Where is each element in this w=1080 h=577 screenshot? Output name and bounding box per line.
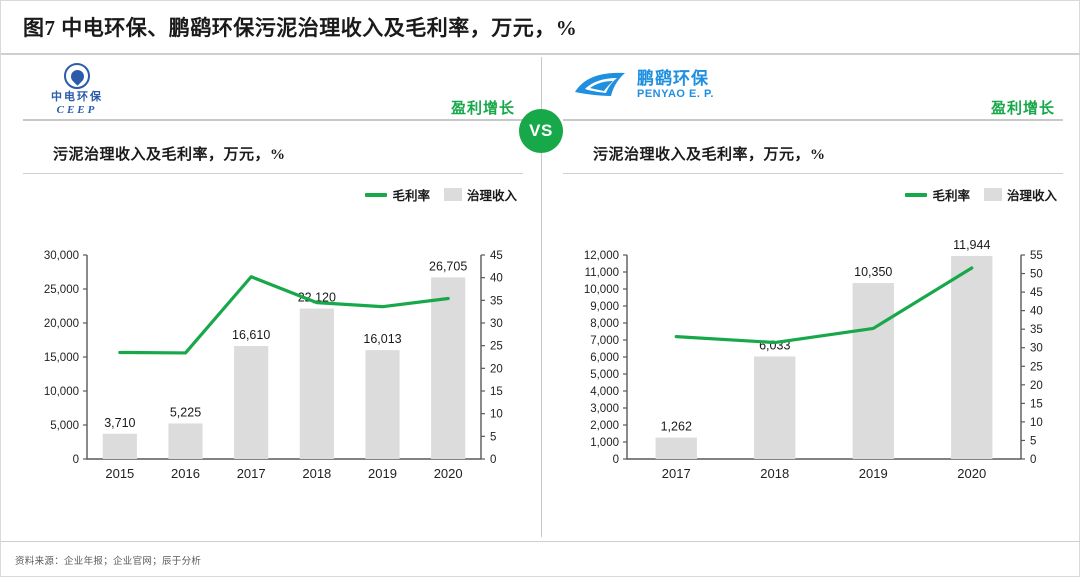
bar: [656, 438, 697, 459]
bar-value-label: 3,710: [104, 416, 135, 430]
bar: [754, 356, 795, 459]
penyao-wordmark: 鹏鹞环保 PENYAO E. P.: [637, 69, 714, 101]
category-label: 2019: [859, 466, 888, 481]
legend-item-margin: 毛利率: [365, 185, 430, 204]
bar: [853, 283, 894, 459]
left-axis-tick-label: 2,000: [590, 420, 619, 432]
bar-swatch-icon: [444, 188, 462, 201]
category-label: 2017: [237, 466, 266, 481]
page-title: 图7 中电环保、鹏鹞环保污泥治理收入及毛利率，万元，%: [23, 12, 577, 42]
ceep-brand-en: CEEP: [57, 104, 98, 117]
bar-swatch-icon: [984, 188, 1002, 201]
right-axis-tick-label: 45: [490, 250, 503, 262]
left-axis-tick-label: 10,000: [44, 386, 79, 398]
panel-ceep-header: 中电环保 CEEP 盈利增长: [23, 61, 523, 121]
vs-badge: VS: [519, 109, 563, 153]
category-label: 2015: [105, 466, 134, 481]
bar-value-label: 16,610: [232, 328, 270, 342]
ceep-subtitle-rule: [23, 173, 523, 174]
left-axis-tick-label: 6,000: [590, 352, 619, 364]
legend-label-margin: 毛利率: [932, 185, 970, 204]
right-axis-tick-label: 15: [1030, 398, 1043, 410]
right-axis-tick-label: 20: [1030, 380, 1043, 392]
panel-penyao: 鹏鹞环保 PENYAO E. P. 盈利增长 污泥治理收入及毛利率，万元，% 毛…: [563, 61, 1063, 531]
legend-item-revenue: 治理收入: [444, 185, 517, 204]
legend-label-margin: 毛利率: [392, 185, 430, 204]
ceep-droplet-icon: [64, 63, 90, 89]
right-axis-tick-label: 0: [1030, 454, 1036, 466]
figure-page: 图7 中电环保、鹏鹞环保污泥治理收入及毛利率，万元，% VS 中电环保 CEEP…: [0, 0, 1080, 577]
title-accent-bar: [1, 7, 7, 47]
line-swatch-icon: [365, 193, 387, 197]
bar: [951, 256, 992, 459]
right-axis-tick-label: 25: [490, 341, 503, 353]
bar: [431, 277, 465, 459]
right-axis-tick-label: 45: [1030, 287, 1043, 299]
penyao-legend: 毛利率 治理收入: [905, 185, 1057, 204]
bar: [234, 346, 268, 459]
left-axis-tick-label: 0: [73, 454, 79, 466]
right-axis-tick-label: 5: [1030, 435, 1036, 447]
bar-value-label: 11,944: [953, 238, 990, 252]
right-axis-tick-label: 35: [1030, 324, 1043, 336]
penyao-plot: 01,0002,0003,0004,0005,0006,0007,0008,00…: [563, 229, 1063, 489]
left-axis-tick-label: 5,000: [590, 369, 619, 381]
left-axis-tick-label: 10,000: [584, 284, 619, 296]
right-axis-tick-label: 40: [490, 273, 503, 285]
penyao-header-rule: [563, 119, 1063, 121]
left-axis-tick-label: 3,000: [590, 403, 619, 415]
bar: [168, 423, 202, 459]
right-axis-tick-label: 20: [490, 363, 503, 375]
category-label: 2020: [957, 466, 986, 481]
ceep-legend: 毛利率 治理收入: [365, 185, 517, 204]
category-label: 2018: [302, 466, 331, 481]
left-axis-tick-label: 15,000: [44, 352, 79, 364]
ceep-growth-tag: 盈利增长: [451, 97, 515, 118]
left-axis-tick-label: 0: [613, 454, 619, 466]
left-axis-tick-label: 12,000: [584, 250, 619, 262]
right-axis-tick-label: 35: [490, 295, 503, 307]
penyao-growth-tag: 盈利增长: [991, 97, 1055, 118]
line-swatch-icon: [905, 193, 927, 197]
footer-divider: [1, 541, 1080, 542]
right-axis-tick-label: 0: [490, 454, 496, 466]
bar-value-label: 26,705: [429, 259, 467, 273]
category-label: 2019: [368, 466, 397, 481]
right-axis-tick-label: 5: [490, 431, 496, 443]
panel-ceep: 中电环保 CEEP 盈利增长 污泥治理收入及毛利率，万元，% 毛利率 治理收入 …: [23, 61, 523, 531]
right-axis-tick-label: 25: [1030, 361, 1043, 373]
ceep-plot: 05,00010,00015,00020,00025,00030,0000510…: [23, 229, 523, 489]
margin-line-series: [676, 268, 972, 343]
right-axis-tick-label: 30: [1030, 343, 1043, 355]
left-axis-tick-label: 30,000: [44, 250, 79, 262]
category-label: 2017: [662, 466, 691, 481]
left-axis-tick-label: 25,000: [44, 284, 79, 296]
legend-label-revenue: 治理收入: [467, 185, 517, 204]
left-axis-tick-label: 9,000: [590, 301, 619, 313]
penyao-wave-icon: [573, 70, 629, 100]
penyao-brand-en: PENYAO E. P.: [637, 88, 714, 101]
category-label: 2016: [171, 466, 200, 481]
legend-item-revenue: 治理收入: [984, 185, 1057, 204]
left-axis-tick-label: 5,000: [50, 420, 79, 432]
bar-value-label: 1,262: [661, 420, 692, 434]
title-divider: [1, 53, 1080, 55]
panel-penyao-header: 鹏鹞环保 PENYAO E. P. 盈利增长: [563, 61, 1063, 121]
left-axis-spine: [87, 255, 481, 459]
bar-value-label: 10,350: [854, 265, 892, 279]
ceep-chart-svg: 05,00010,00015,00020,00025,00030,0000510…: [23, 229, 523, 489]
penyao-brand-cn: 鹏鹞环保: [637, 69, 714, 88]
category-label: 2018: [760, 466, 789, 481]
category-label: 2020: [434, 466, 463, 481]
bar: [365, 350, 399, 459]
ceep-droplet-inner-icon: [68, 67, 86, 85]
right-axis-tick-label: 55: [1030, 250, 1043, 262]
left-axis-tick-label: 20,000: [44, 318, 79, 330]
right-axis-tick-label: 10: [1030, 417, 1043, 429]
penyao-subtitle-rule: [563, 173, 1063, 174]
right-axis-tick-label: 10: [490, 409, 503, 421]
penyao-logo: 鹏鹞环保 PENYAO E. P.: [573, 69, 714, 101]
ceep-header-rule: [23, 119, 523, 121]
penyao-chart-svg: 01,0002,0003,0004,0005,0006,0007,0008,00…: [563, 229, 1063, 489]
legend-label-revenue: 治理收入: [1007, 185, 1057, 204]
source-note: 资料来源：企业年报；企业官网；辰于分析: [15, 553, 201, 567]
bar-value-label: 5,225: [170, 405, 201, 419]
right-axis-tick-label: 15: [490, 386, 503, 398]
figure-title-bar: 图7 中电环保、鹏鹞环保污泥治理收入及毛利率，万元，%: [1, 1, 1080, 53]
ceep-logo: 中电环保 CEEP: [51, 63, 103, 117]
left-axis-tick-label: 11,000: [585, 267, 619, 279]
legend-item-margin: 毛利率: [905, 185, 970, 204]
bar-value-label: 16,013: [363, 332, 401, 346]
bar: [103, 434, 137, 459]
left-axis-tick-label: 8,000: [590, 318, 619, 330]
left-axis-tick-label: 1,000: [590, 437, 619, 449]
ceep-subtitle: 污泥治理收入及毛利率，万元，%: [53, 143, 286, 164]
right-axis-tick-label: 30: [490, 318, 503, 330]
right-axis-tick-label: 40: [1030, 306, 1043, 318]
left-axis-tick-label: 4,000: [590, 386, 619, 398]
right-axis-tick-label: 50: [1030, 269, 1043, 281]
ceep-brand-cn: 中电环保: [51, 91, 103, 104]
left-axis-tick-label: 7,000: [590, 335, 619, 347]
bar: [300, 309, 334, 459]
penyao-subtitle: 污泥治理收入及毛利率，万元，%: [593, 143, 826, 164]
